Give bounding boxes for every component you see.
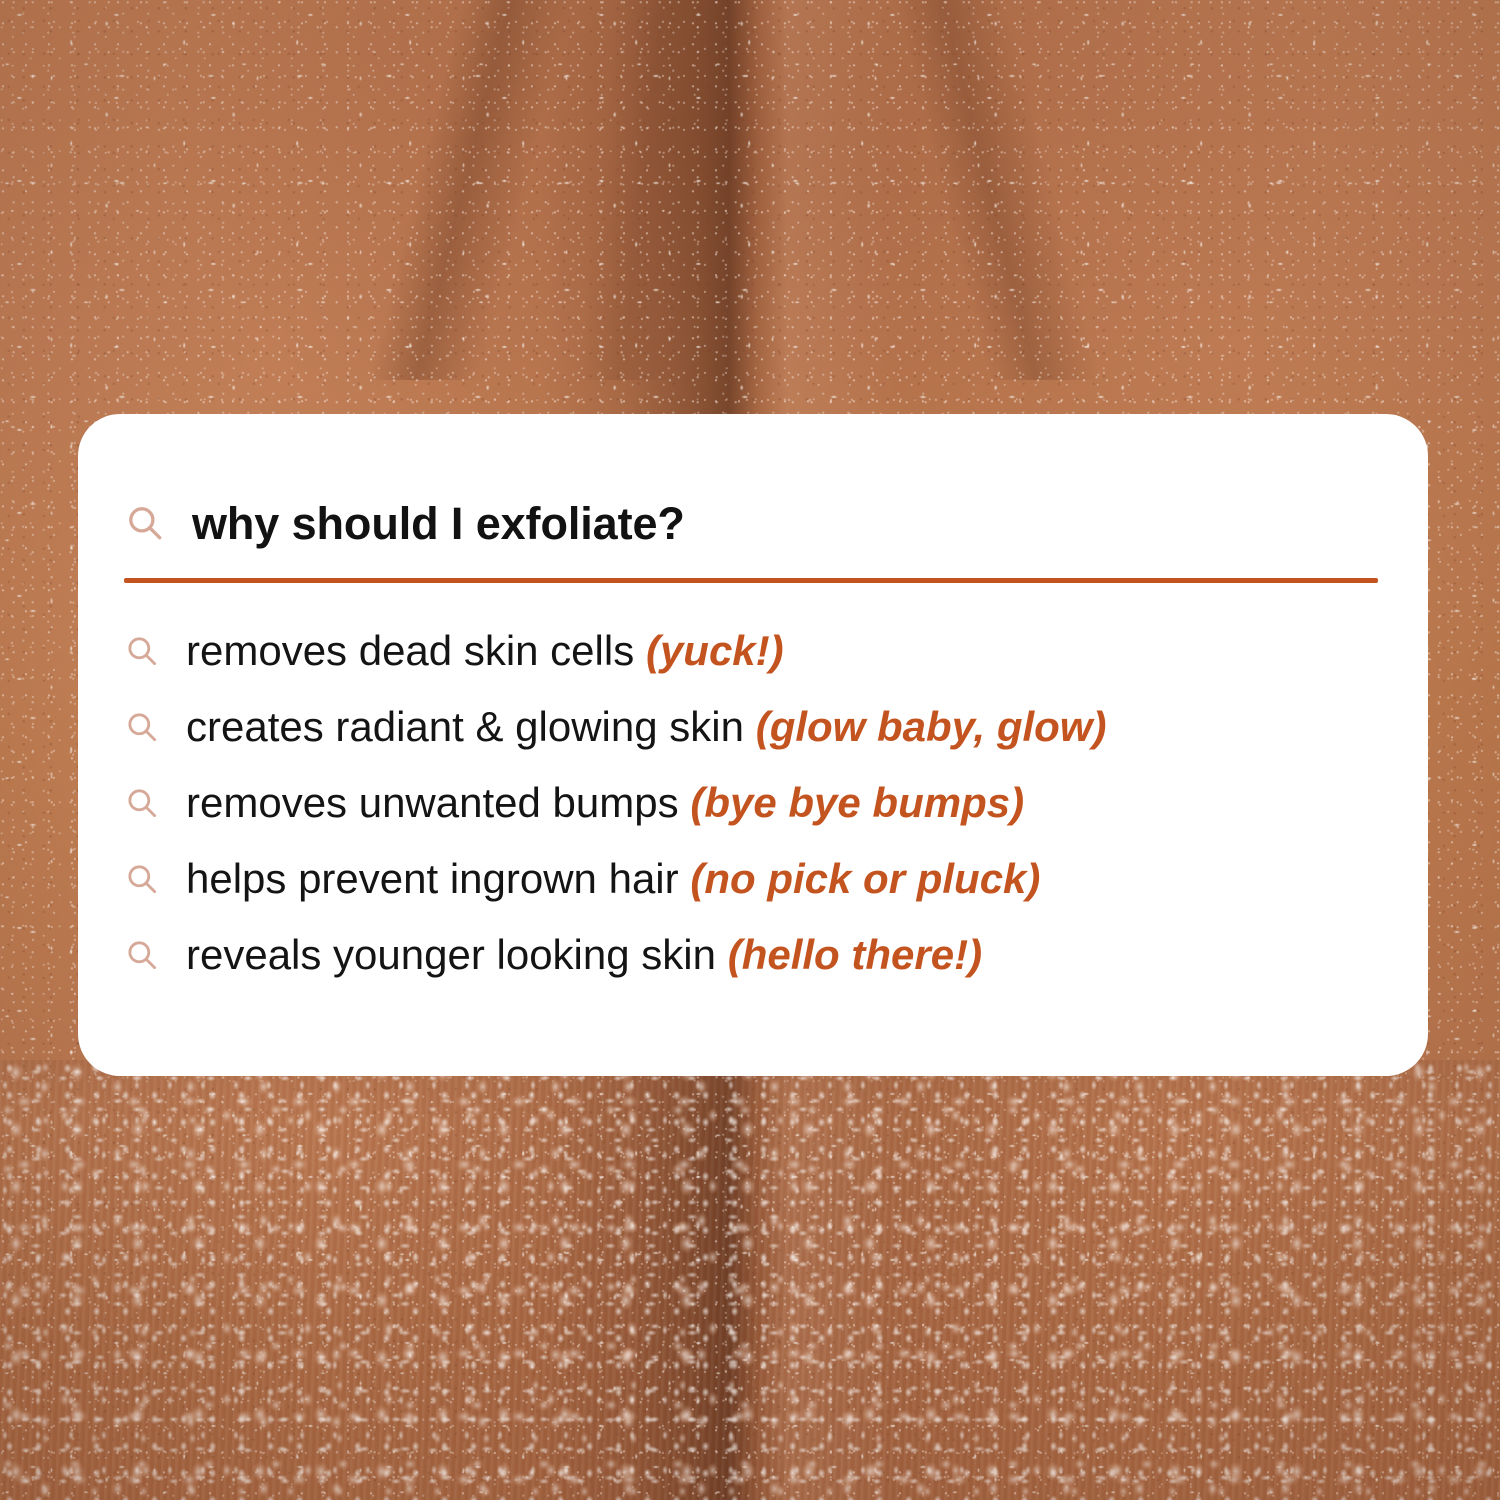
faq-card: why should I exfoliate? removes dead ski…: [78, 414, 1428, 1076]
benefit-text: creates radiant & glowing skin(glow baby…: [186, 706, 1106, 748]
benefit-accent: (yuck!): [646, 627, 784, 674]
faq-question-row: why should I exfoliate?: [124, 492, 1378, 554]
benefit-label: removes dead skin cells: [186, 627, 634, 674]
benefit-label: reveals younger looking skin: [186, 931, 716, 978]
search-icon: [124, 502, 166, 544]
search-icon: [124, 709, 160, 745]
list-item: creates radiant & glowing skin(glow baby…: [124, 689, 1378, 765]
benefit-accent: (glow baby, glow): [756, 703, 1107, 750]
list-item: removes dead skin cells(yuck!): [124, 613, 1378, 689]
exfoliation-faq-graphic: why should I exfoliate? removes dead ski…: [0, 0, 1500, 1500]
benefit-text: removes unwanted bumps(bye bye bumps): [186, 782, 1024, 824]
list-item: helps prevent ingrown hair(no pick or pl…: [124, 841, 1378, 917]
search-icon: [124, 785, 160, 821]
benefit-text: removes dead skin cells(yuck!): [186, 630, 784, 672]
benefits-list: removes dead skin cells(yuck!) creates r…: [124, 613, 1378, 993]
benefit-text: helps prevent ingrown hair(no pick or pl…: [186, 858, 1040, 900]
benefit-label: helps prevent ingrown hair: [186, 855, 679, 902]
benefit-accent: (hello there!): [728, 931, 982, 978]
list-item: removes unwanted bumps(bye bye bumps): [124, 765, 1378, 841]
search-icon: [124, 937, 160, 973]
list-item: reveals younger looking skin(hello there…: [124, 917, 1378, 993]
benefit-label: removes unwanted bumps: [186, 779, 679, 826]
search-icon: [124, 633, 160, 669]
benefit-accent: (bye bye bumps): [690, 779, 1024, 826]
search-icon: [124, 861, 160, 897]
benefit-accent: (no pick or pluck): [690, 855, 1040, 902]
benefit-label: creates radiant & glowing skin: [186, 703, 744, 750]
page-title: why should I exfoliate?: [192, 501, 685, 546]
header-divider: [124, 578, 1378, 583]
benefit-text: reveals younger looking skin(hello there…: [186, 934, 982, 976]
